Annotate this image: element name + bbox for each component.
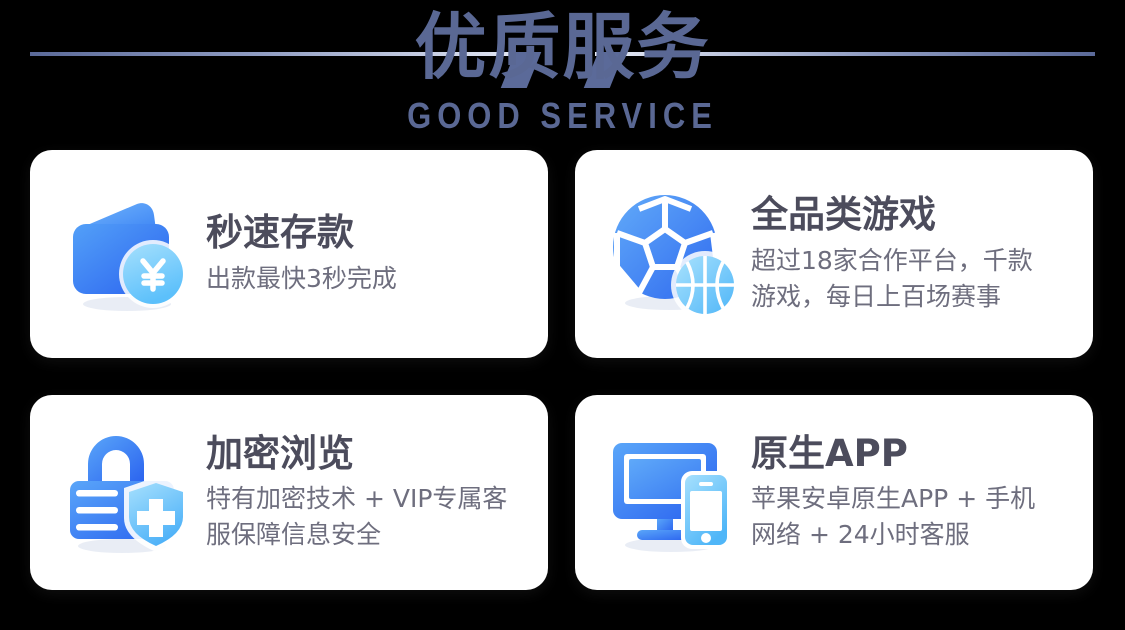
card-text-block: 全品类游戏 超过18家合作平台，千款 游戏，每日上百场赛事 — [751, 193, 1093, 315]
feature-card-games[interactable]: 全品类游戏 超过18家合作平台，千款 游戏，每日上百场赛事 — [575, 150, 1093, 358]
wallet-yen-icon — [52, 179, 202, 329]
card-title: 秒速存款 — [206, 211, 532, 255]
card-description: 苹果安卓原生APP + 手机 网络 + 24小时客服 — [751, 481, 1077, 553]
header: 优质服务 GOOD SERVICE — [0, 0, 1125, 150]
card-title: 原生APP — [751, 432, 1077, 476]
feature-card-deposit[interactable]: 秒速存款 出款最快3秒完成 — [30, 150, 548, 358]
lock-shield-icon — [52, 418, 202, 568]
card-title: 加密浏览 — [206, 432, 532, 476]
card-description-line: 游戏，每日上百场赛事 — [751, 279, 1077, 315]
card-description: 超过18家合作平台，千款 游戏，每日上百场赛事 — [751, 243, 1077, 315]
page-title: 优质服务 — [0, 8, 1125, 86]
card-description-line: 服保障信息安全 — [206, 517, 532, 553]
monitor-phone-icon — [597, 418, 747, 568]
card-description-line: 特有加密技术 + VIP专属客 — [206, 481, 532, 517]
feature-card-native-app[interactable]: 原生APP 苹果安卓原生APP + 手机 网络 + 24小时客服 — [575, 395, 1093, 590]
page-subtitle: GOOD SERVICE — [79, 96, 1047, 136]
card-description-line: 网络 + 24小时客服 — [751, 517, 1077, 553]
feature-card-encryption[interactable]: 加密浏览 特有加密技术 + VIP专属客 服保障信息安全 — [30, 395, 548, 590]
soccer-basketball-icon — [597, 179, 747, 329]
card-description-line: 出款最快3秒完成 — [206, 261, 532, 297]
card-text-block: 秒速存款 出款最快3秒完成 — [206, 211, 548, 297]
card-description-line: 超过18家合作平台，千款 — [751, 243, 1077, 279]
promo-banner: 优质服务 GOOD SERVICE — [0, 0, 1125, 630]
card-title: 全品类游戏 — [751, 193, 1077, 237]
card-description: 特有加密技术 + VIP专属客 服保障信息安全 — [206, 481, 532, 553]
card-text-block: 加密浏览 特有加密技术 + VIP专属客 服保障信息安全 — [206, 432, 548, 553]
feature-card-grid: 秒速存款 出款最快3秒完成 — [30, 150, 1095, 600]
card-description-line: 苹果安卓原生APP + 手机 — [751, 481, 1077, 517]
card-text-block: 原生APP 苹果安卓原生APP + 手机 网络 + 24小时客服 — [751, 432, 1093, 553]
card-description: 出款最快3秒完成 — [206, 261, 532, 297]
